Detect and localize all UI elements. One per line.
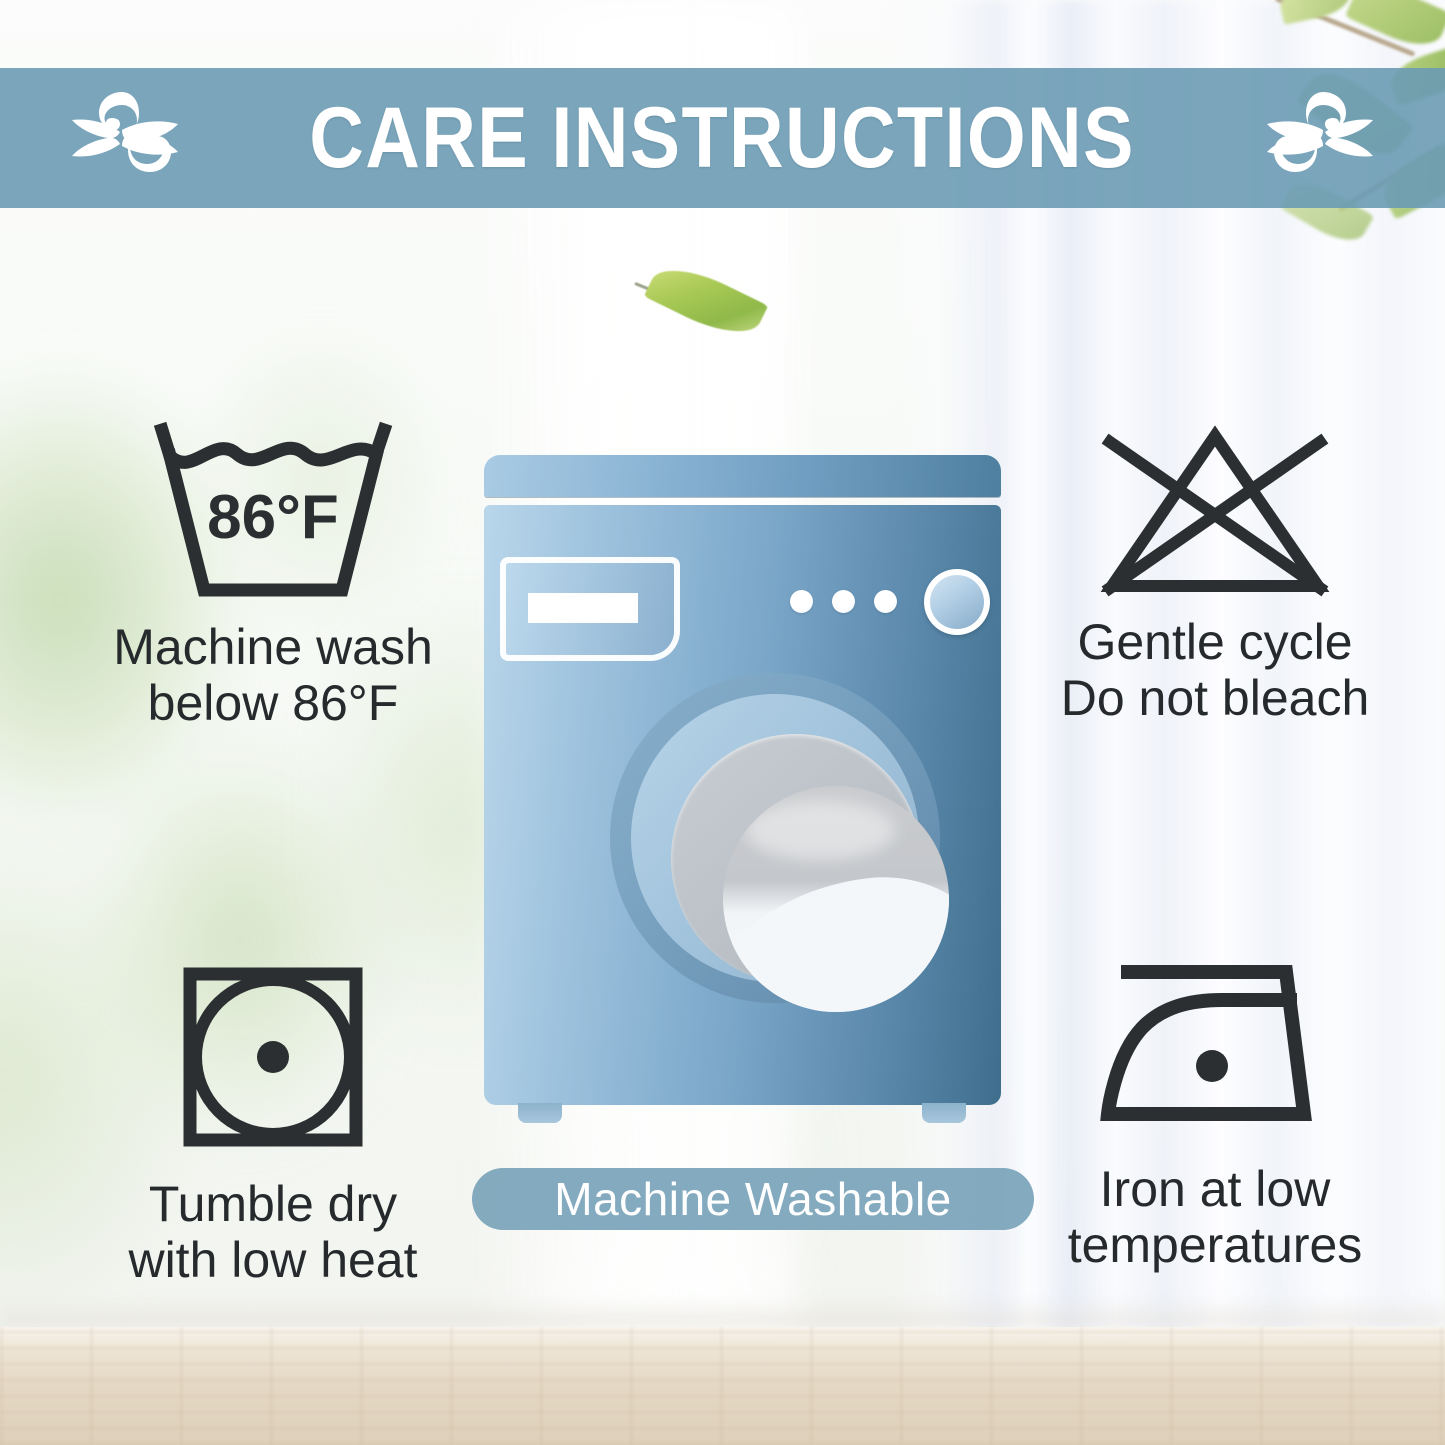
washer-body [484,505,1001,1105]
washer-program-knob[interactable] [924,569,990,635]
washer-glass-highlight [745,800,895,860]
machine-washable-badge: Machine Washable [472,1168,1034,1230]
washer-detergent-drawer[interactable] [506,563,674,655]
washer-door-rim [671,734,921,984]
care-label-tumble-dry: Tumble dry with low heat [48,1176,498,1288]
washer-door-glass [723,786,949,1012]
machine-washable-badge-label: Machine Washable [554,1172,952,1226]
washer-control-panel-top [484,455,1001,497]
washer-foot-left [518,1103,562,1123]
crossed-triangle-icon [1090,420,1340,600]
washer-button-1[interactable] [790,590,813,613]
washer-button-2[interactable] [832,590,855,613]
care-symbol-iron-low: Iron at low temperatures [1000,962,1430,1273]
care-instructions-infographic: CARE INSTRUCTIONS 86°F Machine wash belo… [0,0,1445,1445]
care-label-line1: Gentle cycle [1077,614,1352,670]
tumble-dry-square-icon [163,962,383,1162]
wood-surface [0,1327,1445,1445]
washing-machine-illustration [470,455,1015,1135]
page-title: CARE INSTRUCTIONS [310,89,1136,188]
washer-detergent-slot [528,593,638,623]
care-label-line2: below 86°F [48,675,498,731]
care-label-line2: temperatures [1000,1217,1430,1273]
care-symbol-tumble-dry: Tumble dry with low heat [48,962,498,1288]
care-symbol-machine-wash: 86°F Machine wash below 86°F [48,420,498,731]
care-label-line1: Machine wash [113,619,433,675]
fleur-de-lis-icon-right [1259,86,1387,190]
washer-foot-right [922,1103,966,1123]
iron-icon [1090,962,1340,1147]
care-symbol-do-not-bleach: Gentle cycle Do not bleach [1000,420,1430,726]
care-label-do-not-bleach: Gentle cycle Do not bleach [1000,614,1430,726]
washer-knob-inner [930,575,984,629]
wash-temperature-value: 86°F [207,483,339,552]
care-label-iron-low: Iron at low temperatures [1000,1161,1430,1273]
fleur-de-lis-icon-left [58,86,186,190]
care-label-line2: Do not bleach [1000,670,1430,726]
wash-tub-icon: 86°F [148,420,398,605]
washer-door[interactable] [610,673,940,1003]
header-banner: CARE INSTRUCTIONS [0,68,1445,208]
care-label-line2: with low heat [48,1232,498,1288]
care-label-machine-wash: Machine wash below 86°F [48,619,498,731]
washer-button-3[interactable] [874,590,897,613]
table-shadow [0,1297,1445,1327]
washer-glass-swirl [723,864,949,1012]
care-label-line1: Tumble dry [149,1176,397,1232]
care-label-line1: Iron at low [1100,1161,1331,1217]
washer-door-inner-ring [631,694,919,982]
